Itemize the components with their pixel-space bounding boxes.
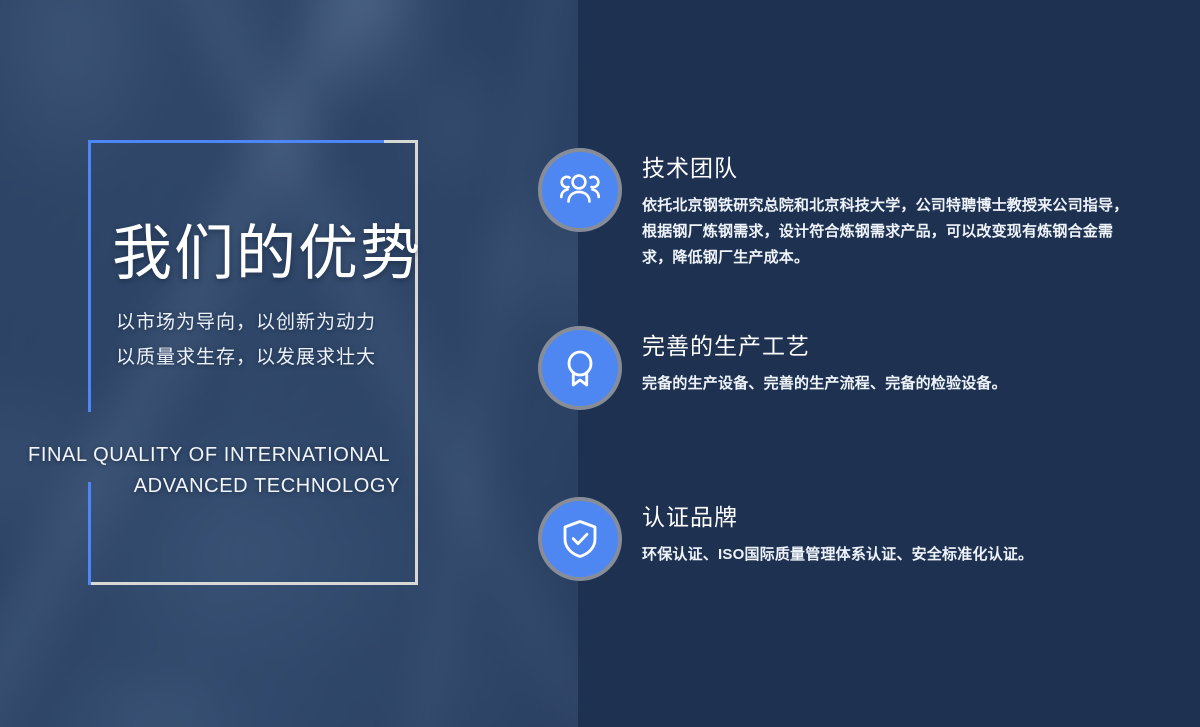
users-group-icon xyxy=(538,148,622,232)
feature-title: 完善的生产工艺 xyxy=(642,332,1132,361)
feature-description: 环保认证、ISO国际质量管理体系认证、安全标准化认证。 xyxy=(642,542,1132,568)
feature-body: 完善的生产工艺 完备的生产设备、完善的生产流程、完备的检验设备。 xyxy=(642,332,1132,397)
advantages-banner: 我们的优势 以市场为导向，以创新为动力 以质量求生存，以发展求壮大 FINAL … xyxy=(0,0,1200,727)
feature-title: 认证品牌 xyxy=(642,503,1132,532)
feature-description: 完备的生产设备、完善的生产流程、完备的检验设备。 xyxy=(642,371,1132,397)
shield-check-icon xyxy=(538,497,622,581)
feature-list: 技术团队 依托北京钢铁研究总院和北京科技大学，公司特聘博士教授来公司指导，根据钢… xyxy=(0,0,1200,727)
feature-body: 技术团队 依托北京钢铁研究总院和北京科技大学，公司特聘博士教授来公司指导，根据钢… xyxy=(642,154,1132,271)
feature-body: 认证品牌 环保认证、ISO国际质量管理体系认证、安全标准化认证。 xyxy=(642,503,1132,568)
award-medal-icon xyxy=(538,326,622,410)
feature-title: 技术团队 xyxy=(642,154,1132,183)
feature-description: 依托北京钢铁研究总院和北京科技大学，公司特聘博士教授来公司指导，根据钢厂炼钢需求… xyxy=(642,193,1132,271)
